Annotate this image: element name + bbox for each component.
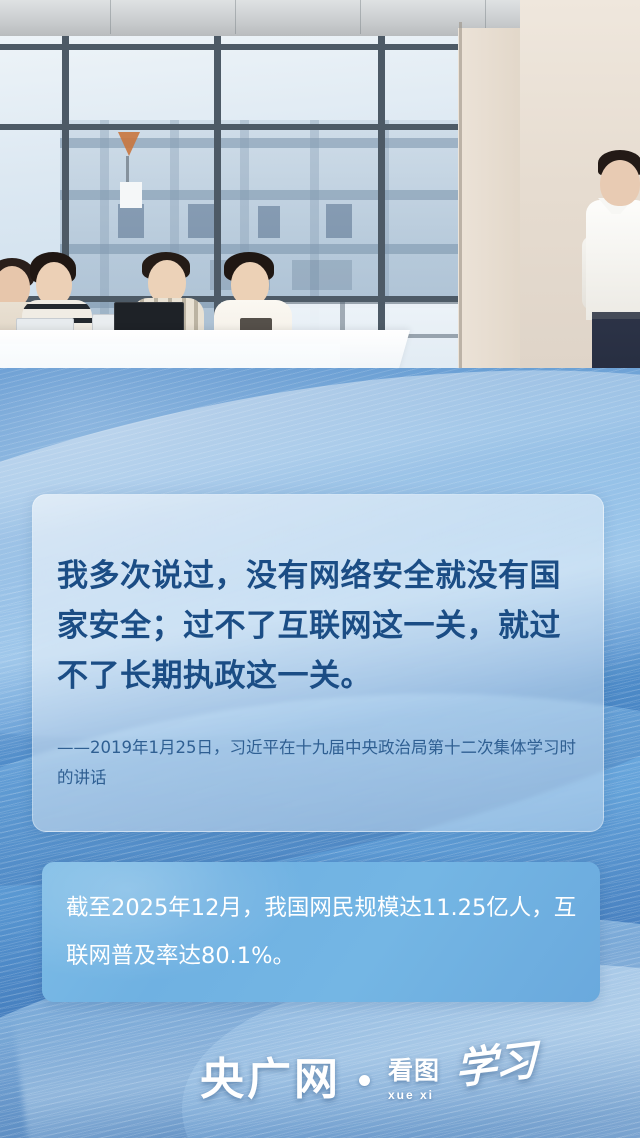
standing-person-head [600,160,640,206]
standing-person-shirt [586,200,640,320]
column-script-xuexi: 学习 [455,1039,535,1091]
hanging-wire [126,156,129,182]
wall-edge [459,22,462,418]
brand-logo-cgw: 央广网 [200,1058,341,1102]
interior-wall-panel [458,28,522,418]
window-white-box [120,182,142,208]
quote-text: 我多次说过，没有网络安全就没有国家安全；过不了互联网这一关，就过不了长期执政这一… [57,551,583,701]
logo-row: 央广网 看图 xue xi [0,1044,640,1116]
standing-person-belt [592,312,640,319]
column-pinyin: xue xi [388,1088,434,1102]
quote-attribution: ——2019年1月25日，习近平在十九届中央政治局第十二次集体学习时的讲话 [57,733,585,793]
column-title: 看图 [388,1058,440,1084]
window-mullion [0,44,512,50]
statistics-text: 截至2025年12月，我国网民规模达11.25亿人，互联网普及率达80.1%。 [66,884,578,980]
quote-card: 我多次说过，没有网络安全就没有国家安全；过不了互联网这一关，就过不了长期执政这一… [32,494,604,832]
photo-wave-seam [0,368,640,428]
ceiling-cone-decor [118,132,140,156]
statistics-box: 截至2025年12月，我国网民规模达11.25亿人，互联网普及率达80.1%。 [42,862,600,1002]
window-mullion [0,124,512,130]
header-photo [0,0,640,418]
column-logo: 看图 xue xi [388,1058,440,1101]
poster-root: 我多次说过，没有网络安全就没有国家安全；过不了互联网这一关，就过不了长期执政这一… [0,0,640,1138]
footer-logo-bar: 央广网 看图 xue xi 学习 [0,1030,640,1138]
separator-dot-icon [359,1075,370,1086]
